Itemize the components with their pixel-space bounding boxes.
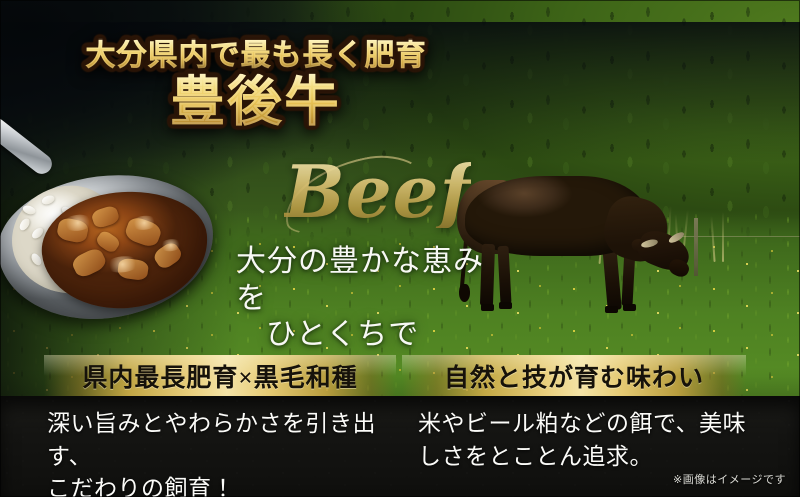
feature-banner-right: 自然と技が育む味わい: [402, 355, 746, 396]
feature-body-right: 米やビール粕などの餌で、美味 しさをとことん追求。: [418, 408, 758, 473]
tagline-line-1: 大分の豊かな恵みを: [236, 245, 484, 315]
feature-body-left: 深い旨みとやわらかさを引き出す、 こだわりの飼育！: [47, 408, 393, 497]
page-title: 大分県内で最も長く肥育 豊後牛: [46, 40, 466, 130]
feature-body-right-line-2: しさをとことん追求。: [418, 441, 758, 474]
hero-tagline: 大分の豊かな恵みを ひとくちで: [236, 244, 486, 354]
image-disclaimer: ※画像はイメージです: [673, 471, 786, 487]
fence-post: [694, 218, 698, 276]
feature-banner-left-label: 県内最長肥育×黒毛和種: [82, 358, 357, 394]
grazing-cow: [455, 172, 685, 327]
cow-hoof: [499, 302, 512, 309]
feature-body-right-line-1: 米やビール粕などの餌で、美味: [418, 408, 758, 441]
tagline-line-2: ひとくちで: [236, 317, 486, 354]
cow-leg-front-right: [497, 246, 511, 304]
feature-banner-right-label: 自然と技が育む味わい: [444, 358, 704, 394]
feature-body-left-line-1: 深い旨みとやわらかさを引き出す、: [47, 408, 393, 473]
cow-hoof: [623, 304, 636, 311]
spoon-dish: [0, 140, 239, 340]
cow-hoof: [605, 306, 618, 313]
feature-banner-left: 県内最長肥育×黒毛和種: [44, 355, 396, 396]
hero-title: 豊後牛: [46, 74, 466, 131]
promo-banner: Beef 大分県内で最も長く肥育 豊後牛 大分の豊かな恵みを ひとくちで 県内最…: [0, 0, 800, 497]
feature-body-left-line-2: こだわりの飼育！: [47, 473, 393, 497]
beef-script-text: Beef: [284, 156, 471, 228]
hero-subtitle: 大分県内で最も長く肥育: [46, 40, 466, 72]
